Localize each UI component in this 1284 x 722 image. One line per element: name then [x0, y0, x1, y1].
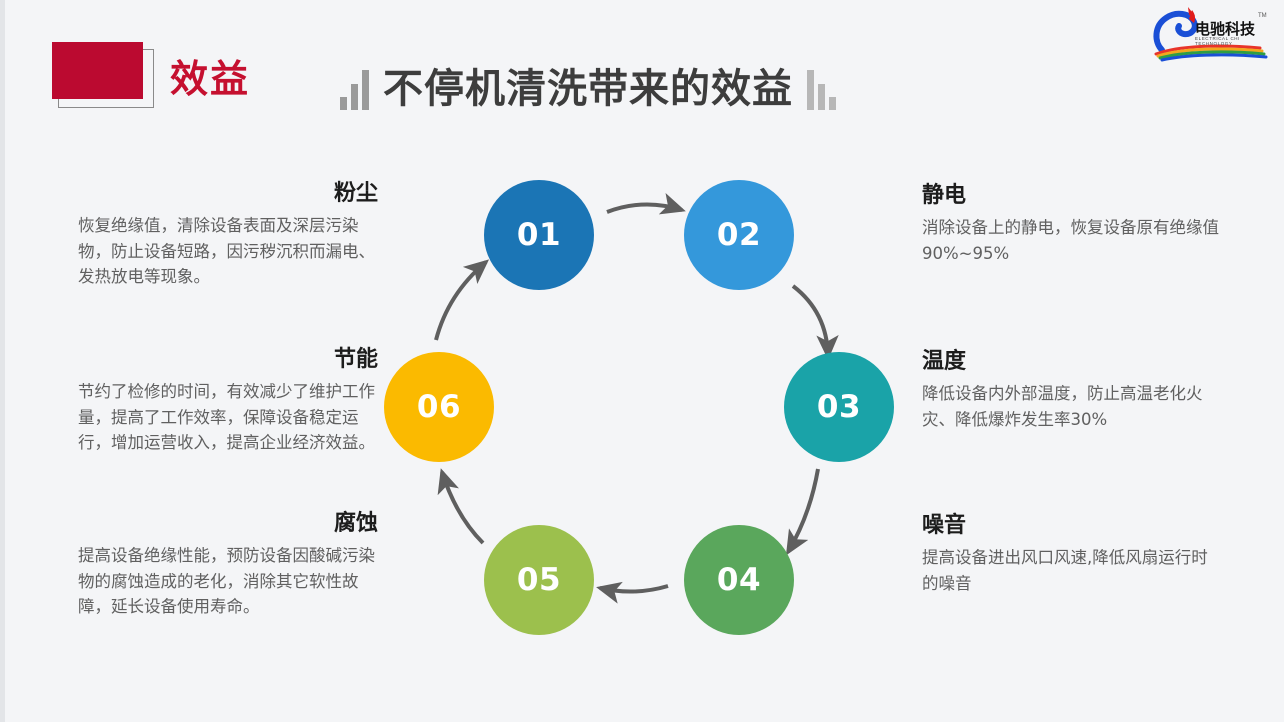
cycle-node-03[interactable]: 03 — [784, 352, 894, 462]
info-block-energy-body: 节约了检修的时间，有效减少了维护工作量，提高了工作效率，保障设备稳定运行，增加运… — [78, 379, 378, 456]
cycle-node-02[interactable]: 02 — [684, 180, 794, 290]
cycle-node-04[interactable]: 04 — [684, 525, 794, 635]
info-block-noise-title: 噪音 — [922, 514, 1222, 538]
info-block-temperature-body: 降低设备内外部温度，防止高温老化火灾、降低爆炸发生率30% — [922, 381, 1222, 432]
section-badge — [52, 42, 160, 110]
info-block-temperature: 温度 降低设备内外部温度，防止高温老化火灾、降低爆炸发生率30% — [922, 350, 1222, 432]
info-block-energy: 节能 节约了检修的时间，有效减少了维护工作量，提高了工作效率，保障设备稳定运行，… — [78, 348, 378, 456]
info-block-noise-body: 提高设备进出风口风速,降低风扇运行时的噪音 — [922, 545, 1222, 596]
bar-chart-icon-right — [807, 68, 836, 110]
info-block-temperature-title: 温度 — [922, 350, 1222, 374]
cycle-node-05-label: 05 — [517, 562, 561, 598]
info-block-dust: 粉尘 恢复绝缘值，清除设备表面及深层污染物，防止设备短路，因污秽沉积而漏电、发热… — [78, 182, 378, 290]
cycle-node-01[interactable]: 01 — [484, 180, 594, 290]
logo-trademark-symbol: TM — [1258, 13, 1267, 19]
arrow-02-to-03 — [793, 286, 828, 356]
arrow-03-to-04 — [788, 469, 818, 552]
page-title-row: 不停机清洗带来的效益 — [340, 68, 836, 110]
info-block-dust-body: 恢复绝缘值，清除设备表面及深层污染物，防止设备短路，因污秽沉积而漏电、发热放电等… — [78, 213, 378, 290]
section-badge-label: 效益 — [170, 48, 250, 103]
info-block-static-title: 静电 — [922, 184, 1222, 208]
cycle-node-03-label: 03 — [817, 389, 861, 425]
info-block-static-body: 消除设备上的静电，恢复设备原有绝缘值90%~95% — [922, 215, 1222, 266]
arrow-04-to-05 — [600, 586, 668, 592]
cycle-node-05[interactable]: 05 — [484, 525, 594, 635]
info-block-corrosion-title: 腐蚀 — [78, 512, 378, 536]
page-title: 不停机清洗带来的效益 — [383, 69, 793, 110]
arrow-05-to-06 — [442, 472, 483, 543]
slide-canvas: 效益 不停机清洗带来的效益 电驰科技 ELECTRICAL CHI TECHNO… — [0, 0, 1284, 722]
cycle-node-06[interactable]: 06 — [384, 352, 494, 462]
info-block-noise: 噪音 提高设备进出风口风速,降低风扇运行时的噪音 — [922, 514, 1222, 596]
bar-chart-icon-left — [340, 68, 369, 110]
arrow-06-to-01 — [436, 262, 486, 340]
info-block-static: 静电 消除设备上的静电，恢复设备原有绝缘值90%~95% — [922, 184, 1222, 266]
badge-red-box — [52, 42, 143, 99]
info-block-corrosion: 腐蚀 提高设备绝缘性能，预防设备因酸碱污染物的腐蚀造成的老化，消除其它软性故障，… — [78, 512, 378, 620]
cycle-node-06-label: 06 — [417, 389, 461, 425]
cycle-diagram: 01 02 03 04 05 06 — [372, 160, 912, 660]
info-block-corrosion-body: 提高设备绝缘性能，预防设备因酸碱污染物的腐蚀造成的老化，消除其它软性故障，延长设… — [78, 543, 378, 620]
cycle-node-04-label: 04 — [717, 562, 761, 598]
info-block-dust-title: 粉尘 — [78, 182, 378, 206]
arrow-01-to-02 — [607, 204, 682, 212]
slide-left-edge — [0, 0, 5, 722]
cycle-node-01-label: 01 — [517, 217, 561, 253]
info-block-energy-title: 节能 — [78, 348, 378, 372]
cycle-node-02-label: 02 — [717, 217, 761, 253]
company-logo: 电驰科技 ELECTRICAL CHI TECHNOLOGY TM — [1148, 4, 1272, 62]
logo-company-name-en: ELECTRICAL CHI TECHNOLOGY — [1195, 36, 1272, 46]
